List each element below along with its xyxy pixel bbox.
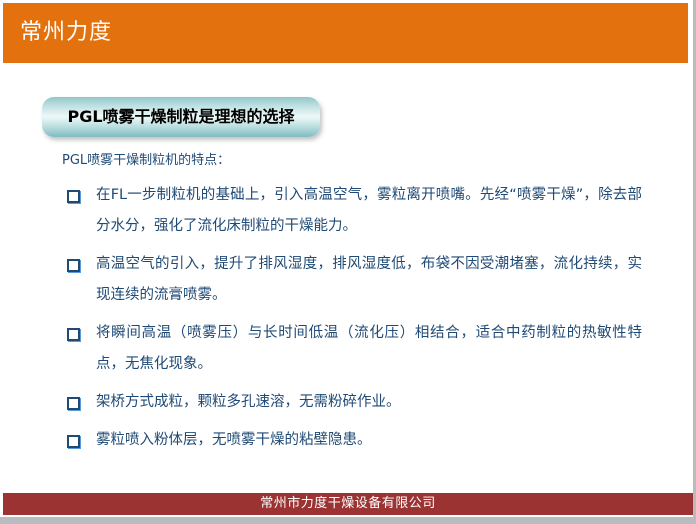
slide-header-bar: 常州力度: [3, 3, 688, 63]
square-bullet-icon: [67, 259, 80, 272]
list-item-text: 在FL一步制粒机的基础上，引入高温空气，雾粒离开喷嘴。先经“喷雾干燥”，除去部分…: [96, 187, 642, 234]
list-item-text: 高温空气的引入，提升了排风湿度，排风湿度低，布袋不因受潮堵塞，流化持续，实现连续…: [96, 256, 642, 303]
list-item-text: 架桥方式成粒，颗粒多孔速溶，无需粉碎作业。: [96, 394, 401, 410]
square-bullet-icon: [67, 397, 80, 410]
list-item: 雾粒喷入粉体层，无喷雾干燥的粘壁隐患。: [62, 425, 642, 456]
list-item-text: 将瞬间高温（喷雾压）与长时间低温（流化压）相结合，适合中药制粒的热敏性特点，无焦…: [96, 325, 642, 372]
intro-line: PGL喷雾干燥制粒机的特点：: [62, 150, 642, 172]
presentation-slide: 常州力度 PGL喷雾干燥制粒是理想的选择 PGL喷雾干燥制粒机的特点： 在FL一…: [0, 0, 696, 524]
list-item: 在FL一步制粒机的基础上，引入高温空气，雾粒离开喷嘴。先经“喷雾干燥”，除去部分…: [62, 180, 642, 242]
feature-bullet-list: 在FL一步制粒机的基础上，引入高温空气，雾粒离开喷嘴。先经“喷雾干燥”，除去部分…: [62, 180, 642, 456]
square-bullet-icon: [67, 190, 80, 203]
slide-title-plate: PGL喷雾干燥制粒是理想的选择: [42, 97, 320, 137]
square-bullet-icon: [67, 328, 80, 341]
list-item: 将瞬间高温（喷雾压）与长时间低温（流化压）相结合，适合中药制粒的热敏性特点，无焦…: [62, 318, 642, 380]
list-item: 架桥方式成粒，颗粒多孔速溶，无需粉碎作业。: [62, 387, 642, 418]
slide-body: PGL喷雾干燥制粒机的特点： 在FL一步制粒机的基础上，引入高温空气，雾粒离开喷…: [62, 150, 642, 463]
list-item: 高温空气的引入，提升了排风湿度，排风湿度低，布袋不因受潮堵塞，流化持续，实现连续…: [62, 249, 642, 311]
slide-footer-bar: 常州市力度干燥设备有限公司: [3, 493, 693, 515]
page-bottom-edge: [0, 520, 696, 524]
company-brand-title: 常州力度: [20, 17, 112, 49]
square-bullet-icon: [67, 435, 80, 448]
list-item-text: 雾粒喷入粉体层，无喷雾干燥的粘壁隐患。: [96, 432, 372, 448]
slide-title-text: PGL喷雾干燥制粒是理想的选择: [42, 97, 320, 137]
footer-company-name: 常州市力度干燥设备有限公司: [3, 493, 693, 515]
